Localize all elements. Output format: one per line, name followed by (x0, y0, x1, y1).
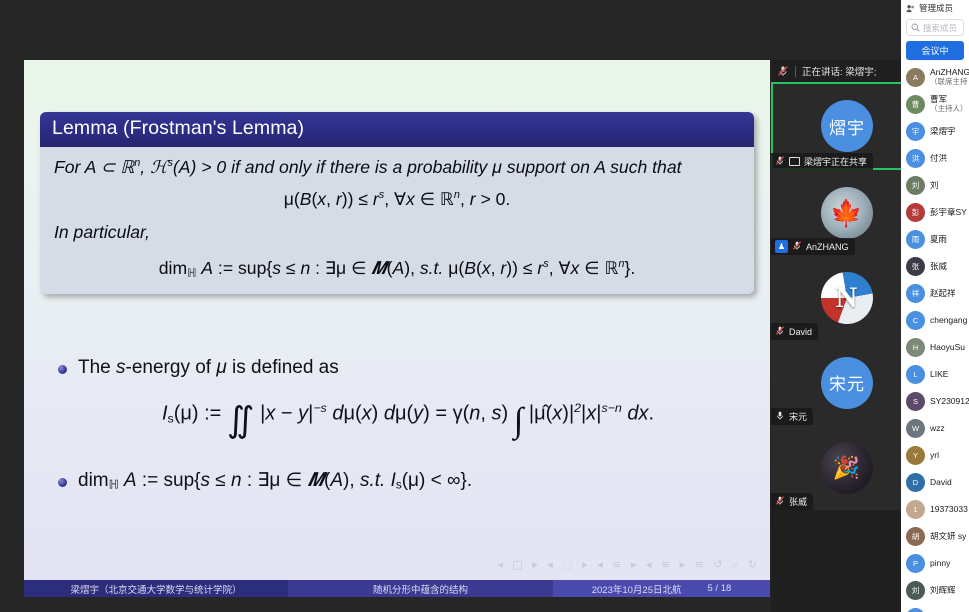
search-placeholder: 搜索成员 (923, 22, 957, 34)
participant-text: 张威 (930, 262, 947, 272)
participant-list-item[interactable]: 刘刘辉辉 (901, 577, 969, 604)
participant-text: wzz (930, 424, 945, 434)
bullet-2-text: dimℍ A := sup{s ≤ n : ∃μ ∈ 𝑴(A), s.t. Is… (78, 469, 472, 494)
participant-avatar: C (906, 311, 925, 330)
participant-text: chengang (930, 316, 967, 326)
participant-text: David (930, 478, 952, 488)
participant-name: 19373033 (930, 505, 968, 515)
footer-author: 梁熠宇（北京交通大学数学与统计学院） (24, 580, 288, 597)
participant-avatar: 宇 (906, 122, 925, 141)
participant-text: 胡文妍 sy (930, 532, 966, 542)
theorem-statement-line: For A ⊂ ℝn, ℋs(A) > 0 if and only if the… (54, 156, 740, 179)
slide-footer-bar: 梁熠宇（北京交通大学数学与统计学院） 随机分形中蕴含的结构 2023年10月25… (24, 580, 770, 597)
participant-name: 付洪 (930, 154, 947, 164)
participant-list-item[interactable]: Yyrl (901, 442, 969, 469)
participant-list-item[interactable]: 胡胡文妍 sy (901, 523, 969, 550)
participant-text: 曹军（主持人） (930, 95, 968, 113)
mic-muted-icon (775, 155, 785, 168)
bullet-dot-icon (58, 365, 67, 374)
participant-name: 张威 (930, 262, 947, 272)
participant-list-item[interactable]: 宋元宋元 (901, 604, 969, 612)
participant-name: 胡文妍 sy (930, 532, 966, 542)
bullet-item-2: dimℍ A := sup{s ≤ n : ∃μ ∈ 𝑴(A), s.t. Is… (58, 469, 758, 494)
participant-avatar: W (906, 419, 925, 438)
presentation-slide[interactable]: Lemma (Frostman's Lemma) For A ⊂ ℝn, ℋs(… (24, 60, 770, 597)
participant-list-item[interactable]: AAnZHANG（联席主持 (901, 64, 969, 91)
participant-list-item[interactable]: 祥赵起祥 (901, 280, 969, 307)
participant-name: 刘辉辉 (930, 586, 956, 596)
footer-date: 2023年10月25日北航 (592, 582, 682, 596)
participant-name: 彭宇章SY (930, 208, 967, 218)
people-icon (906, 4, 915, 13)
theorem-title: Lemma (Frostman's Lemma) (40, 112, 754, 147)
bullet-1-text: The s-energy of μ is defined as (78, 356, 339, 381)
video-tile-name: David (789, 327, 812, 337)
participant-text: SY230912 (930, 397, 969, 407)
participant-list-item[interactable]: Wwzz (901, 415, 969, 442)
mic-muted-icon (792, 240, 802, 253)
mic-muted-icon (775, 495, 785, 508)
participant-name: wzz (930, 424, 945, 434)
participant-name: 赵起祥 (930, 289, 956, 299)
mic-muted-icon (775, 325, 785, 338)
avatar: N (821, 272, 873, 324)
participant-avatar: L (906, 365, 925, 384)
participant-avatar: D (906, 473, 925, 492)
slide-bullet-list: The s-energy of μ is defined as Is(μ) :=… (58, 356, 758, 498)
participant-list-item[interactable]: HHaoyuSu (901, 334, 969, 361)
participant-text: 赵起祥 (930, 289, 956, 299)
mic-on-icon (775, 410, 785, 423)
theorem-display-equation-1: μ(B(x, r)) ≤ rs, ∀x ∈ ℝn, r > 0. (54, 188, 740, 211)
participants-panel: 管理成员 搜索成员 会议中 AAnZHANG（联席主持曹曹军（主持人）宇梁熠宇洪… (901, 0, 969, 612)
meeting-status-button[interactable]: 会议中 (906, 41, 964, 60)
participant-name: yrl (930, 451, 939, 461)
participant-avatar: S (906, 392, 925, 411)
participant-list-item[interactable]: SSY230912 (901, 388, 969, 415)
participant-list-item[interactable]: DDavid (901, 469, 969, 496)
participant-text: yrl (930, 451, 939, 461)
video-tile-name: 宋元 (789, 410, 807, 423)
video-tile-label: 宋元 (771, 408, 813, 425)
participant-text: 付洪 (930, 154, 947, 164)
participants-header: 管理成员 (901, 0, 969, 16)
participant-avatar: 张 (906, 257, 925, 276)
divider (795, 66, 796, 77)
search-icon (911, 23, 920, 32)
avatar: 宋元 (821, 357, 873, 409)
avatar: 🎉 (821, 442, 873, 494)
participant-text: 19373033 (930, 505, 968, 515)
participant-name: LIKE (930, 370, 948, 380)
participant-avatar: 彭 (906, 203, 925, 222)
participant-text: 夏雨 (930, 235, 947, 245)
mic-muted-icon (777, 65, 789, 77)
screen-share-icon (789, 157, 800, 166)
participant-name: David (930, 478, 952, 488)
participant-avatar: 祥 (906, 284, 925, 303)
participant-list-item[interactable]: 彭彭宇章SY (901, 199, 969, 226)
theorem-block: Lemma (Frostman's Lemma) For A ⊂ ℝn, ℋs(… (40, 112, 754, 294)
participant-list-item[interactable]: 张张威 (901, 253, 969, 280)
participant-text: 刘辉辉 (930, 586, 956, 596)
participant-avatar: P (906, 554, 925, 573)
participant-text: AnZHANG（联席主持 (930, 68, 969, 86)
avatar: 🍁 (821, 187, 873, 239)
theorem-display-equation-2: dimℍ A := sup{s ≤ n : ∃μ ∈ 𝑴(A), s.t. μ(… (54, 257, 740, 281)
participant-avatar: H (906, 338, 925, 357)
participant-list-item[interactable]: 曹曹军（主持人） (901, 91, 969, 118)
participant-text: HaoyuSu (930, 343, 965, 353)
video-tile-label: David (771, 323, 818, 340)
video-tile-name: 张威 (789, 495, 807, 508)
beamer-navigation-symbols[interactable]: ◂ □ ▸ ◂ ⬚ ▸ ◂ ≡ ▸ ◂ ≡ ▸ ≡ ↺ ⌕ ↻ (497, 558, 760, 572)
participant-text: 彭宇章SY (930, 208, 967, 218)
bullet-dot-icon (58, 478, 67, 487)
participant-avatar: 1 (906, 500, 925, 519)
search-input[interactable]: 搜索成员 (906, 19, 964, 36)
participant-name: 梁熠宇 (930, 127, 956, 137)
participant-list-item[interactable]: 宇梁熠宇 (901, 118, 969, 145)
participant-list-item[interactable]: Ppinny (901, 550, 969, 577)
participant-avatar: 雨 (906, 230, 925, 249)
participant-avatar: 胡 (906, 527, 925, 546)
participant-list-item[interactable]: LLIKE (901, 361, 969, 388)
participant-role: （联席主持 (930, 78, 969, 87)
participant-name: SY230912 (930, 397, 969, 407)
participant-avatar: 曹 (906, 95, 925, 114)
footer-date-and-page: 2023年10月25日北航 5 / 18 (553, 580, 770, 597)
participant-text: pinny (930, 559, 950, 569)
host-badge-icon: ♟ (775, 240, 788, 253)
participant-list-item[interactable]: 刘刘 (901, 172, 969, 199)
participants-list: AAnZHANG（联席主持曹曹军（主持人）宇梁熠宇洪付洪刘刘彭彭宇章SY雨夏雨张… (901, 64, 969, 612)
participant-list-item[interactable]: Cchengang (901, 307, 969, 334)
footer-page-number: 5 / 18 (708, 583, 732, 594)
bullet-item-1: The s-energy of μ is defined as (58, 356, 758, 381)
participant-name: chengang (930, 316, 967, 326)
participant-avatar: 宋元 (906, 608, 925, 612)
participant-text: LIKE (930, 370, 948, 380)
video-tile-label: 梁熠宇正在共享 (771, 153, 873, 170)
speaking-label: 正在讲话: 梁熠宇; (802, 64, 876, 78)
participant-text: 刘 (930, 181, 939, 191)
participant-role: （主持人） (930, 105, 968, 114)
participant-name: pinny (930, 559, 950, 569)
bullet-spacer (58, 425, 758, 469)
participant-text: 梁熠宇 (930, 127, 956, 137)
participant-list-item[interactable]: 119373033 (901, 496, 969, 523)
energy-equation: Is(μ) := ∬ |x − y|−s dμ(x) dμ(y) = γ(n, … (58, 401, 758, 426)
participants-header-label: 管理成员 (919, 2, 953, 14)
participant-avatar: Y (906, 446, 925, 465)
avatar: 熠宇 (821, 100, 873, 152)
participant-list-item[interactable]: 洪付洪 (901, 145, 969, 172)
participant-avatar: 刘 (906, 176, 925, 195)
participant-name: 夏雨 (930, 235, 947, 245)
video-tile-name: AnZHANG (806, 242, 849, 252)
participant-avatar: A (906, 68, 925, 87)
participant-avatar: 刘 (906, 581, 925, 600)
video-tile-label: 张威 (771, 493, 813, 510)
video-tile-label: ♟AnZHANG (771, 238, 855, 255)
participant-name: HaoyuSu (930, 343, 965, 353)
participant-name: 刘 (930, 181, 939, 191)
screen: Lemma (Frostman's Lemma) For A ⊂ ℝn, ℋs(… (0, 0, 969, 612)
theorem-inparticular: In particular, (54, 221, 740, 244)
participant-list-item[interactable]: 雨夏雨 (901, 226, 969, 253)
footer-title: 随机分形中蕴含的结构 (288, 580, 553, 597)
video-tile-name: 梁熠宇正在共享 (804, 155, 867, 168)
participant-avatar: 洪 (906, 149, 925, 168)
theorem-body: For A ⊂ ℝn, ℋs(A) > 0 if and only if the… (40, 147, 754, 294)
